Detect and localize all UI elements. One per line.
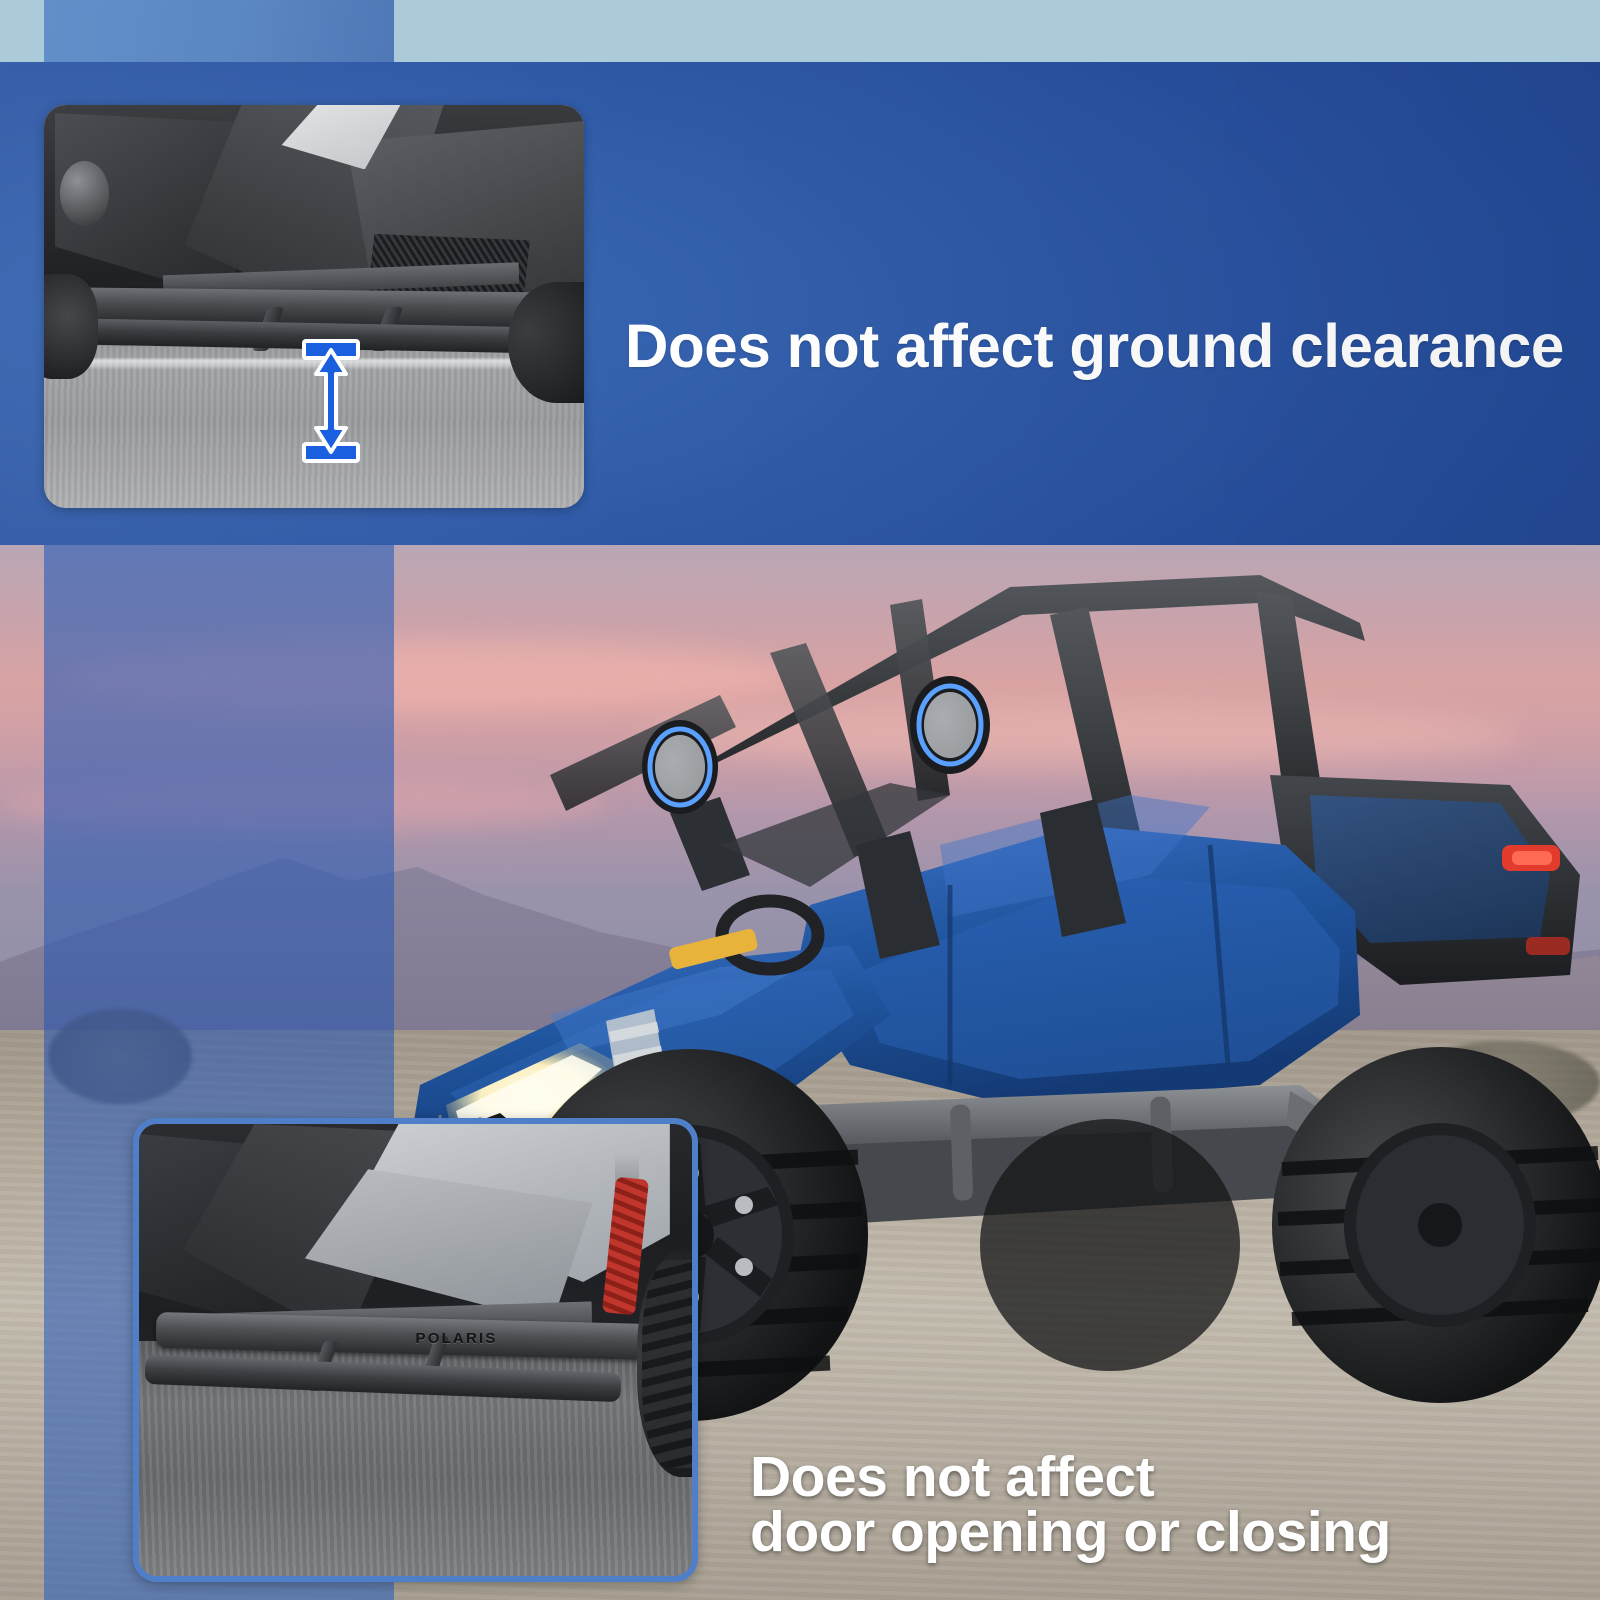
caption-line-2: door opening or closing (750, 1505, 1391, 1560)
headline-text: Does not affect ground clearance (625, 314, 1571, 378)
ground-clearance-dimension-arrow (301, 338, 361, 464)
caption-line-1: Does not affect (750, 1450, 1391, 1505)
inset-door-clearance-photo: POLARIS (133, 1118, 698, 1582)
shock-cap (60, 161, 109, 225)
bottom-caption: Does not affect door opening or closing (750, 1450, 1391, 1560)
polaris-logo-text: POLARIS (416, 1330, 498, 1347)
top-accent-block (44, 0, 394, 62)
top-color-strip (0, 0, 1600, 62)
product-infographic: Does not affect ground clearance (0, 0, 1600, 1600)
tire-tread (642, 1260, 698, 1468)
front-wheel (44, 274, 98, 379)
